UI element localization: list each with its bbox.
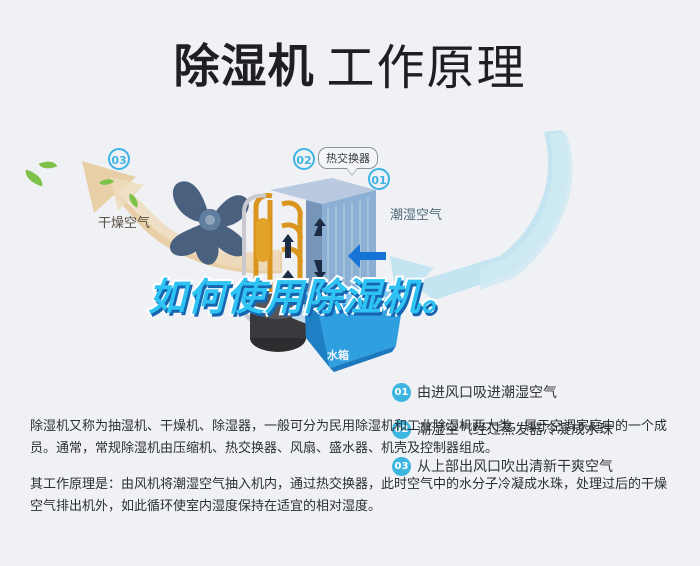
water-tank-label: 水箱 [327, 347, 349, 363]
heat-exchanger-callout: 热交换器 [318, 147, 378, 169]
diagram-badge-02: 02 [293, 148, 315, 170]
diagram-badge-01: 01 [368, 168, 390, 190]
diagram-badge-03: 03 [108, 148, 130, 170]
page-title-primary: 除湿机 [173, 40, 314, 92]
legend-label: 由进风口吸进潮湿空气 [417, 382, 557, 402]
overlay-headline: 如何使用除湿机。 [148, 266, 460, 321]
legend-badge: 01 [392, 383, 411, 402]
body-copy: 除湿机又称为抽湿机、干燥机、除湿器，一般可分为民用除湿机和工业除湿机两大类，属于… [30, 416, 674, 532]
humid-air-label: 潮湿空气 [390, 204, 442, 223]
body-paragraph-1: 除湿机又称为抽湿机、干燥机、除湿器，一般可分为民用除湿机和工业除湿机两大类，属于… [30, 416, 674, 460]
page-title-secondary: 工作原理 [326, 40, 526, 96]
dry-air-label: 干燥空气 [98, 212, 150, 231]
list-item: 01 由进风口吸进潮湿空气 [392, 382, 692, 402]
dehumidifier-diagram: 干燥空气 潮湿空气 水箱 03 02 01 热交换器 01 由进风口吸进潮湿空气… [0, 120, 700, 400]
body-paragraph-2: 其工作原理是：由风机将潮湿空气抽入机内，通过热交换器，此时空气中的水分子冷凝成水… [30, 474, 674, 518]
infographic-page: 除湿机工作原理 [0, 0, 700, 566]
leaf-icon [23, 170, 45, 187]
page-title: 除湿机工作原理 [0, 28, 700, 98]
